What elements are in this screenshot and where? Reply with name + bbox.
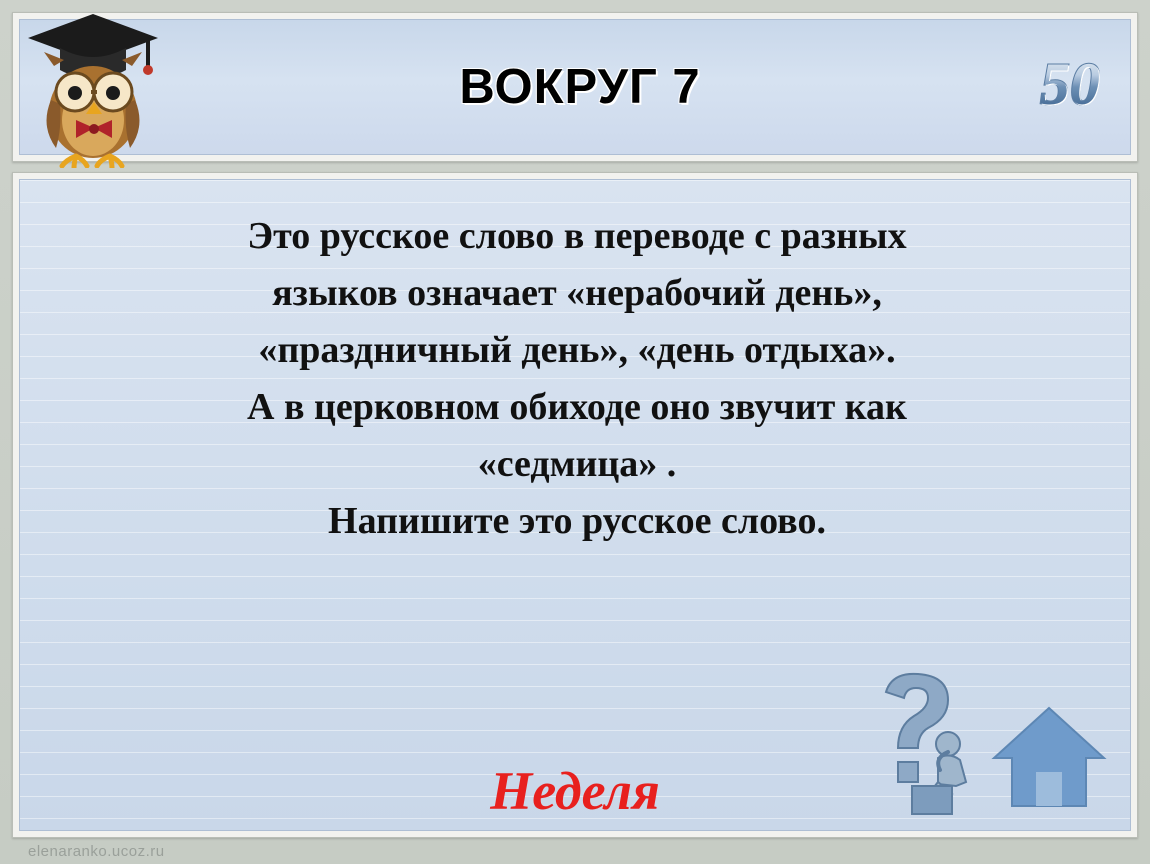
question-line: языков означает «нерабочий день», — [60, 265, 1094, 322]
body-inner: Это русское слово в переводе с разных яз… — [19, 179, 1131, 831]
page-title: ВОКРУГ 7 — [459, 59, 700, 115]
owl-graduate-icon — [18, 8, 168, 168]
home-icon[interactable] — [990, 702, 1108, 812]
question-line: Напишите это русское слово. — [60, 493, 1094, 550]
question-line: Это русское слово в переводе с разных — [60, 208, 1094, 265]
slide: ВОКРУГ 7 50 50 — [0, 0, 1150, 864]
header-inner: ВОКРУГ 7 50 50 — [19, 19, 1131, 155]
question-text: Это русское слово в переводе с разных яз… — [60, 208, 1094, 550]
question-line: «праздничный день», «день отдыха». — [60, 322, 1094, 379]
score-badge: 50 — [1040, 54, 1100, 114]
question-line: «седмица» . — [60, 436, 1094, 493]
question-line: А в церковном обиходе оно звучит как — [60, 379, 1094, 436]
question-mark-thinker-icon[interactable] — [852, 670, 982, 820]
watermark: elenaranko.ucoz.ru — [28, 843, 165, 860]
header-panel: ВОКРУГ 7 50 50 — [12, 12, 1138, 162]
body-panel: Это русское слово в переводе с разных яз… — [12, 172, 1138, 838]
